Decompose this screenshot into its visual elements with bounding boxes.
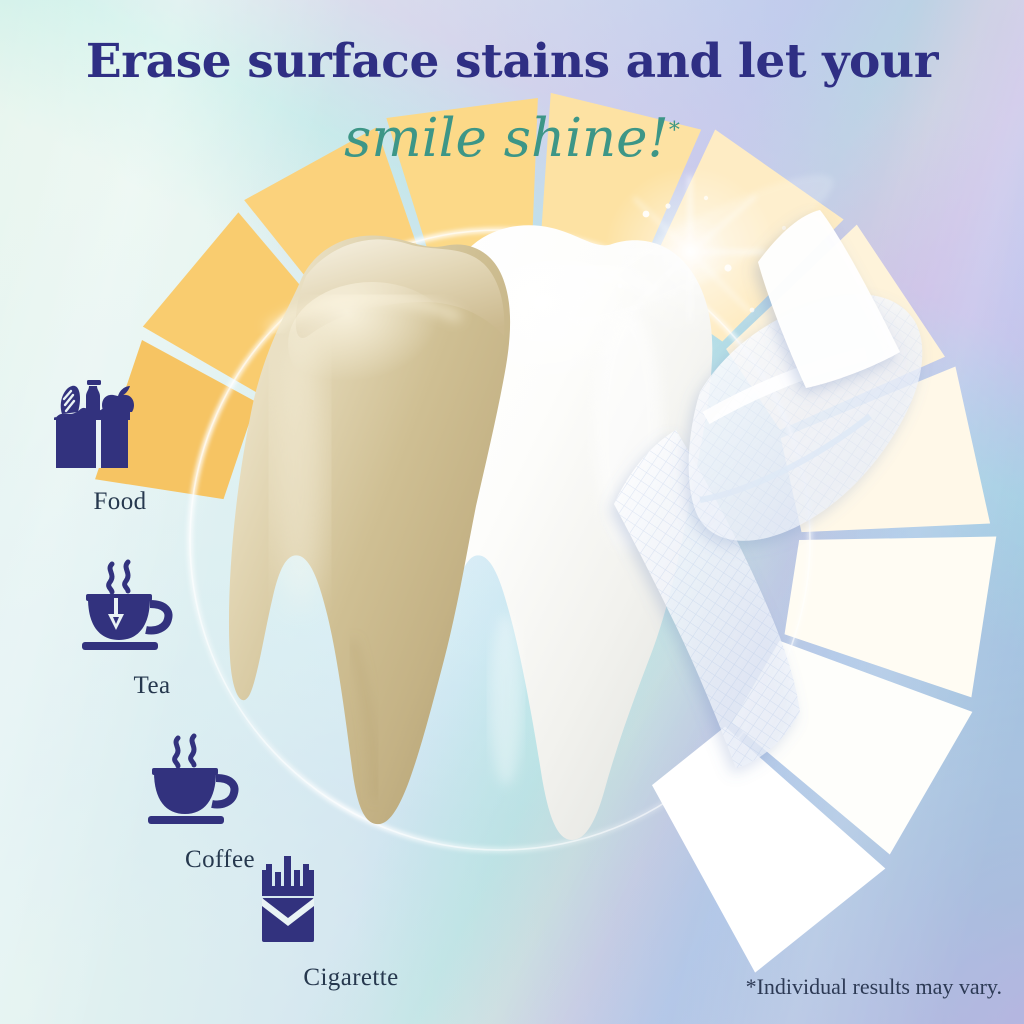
page-title: Erase surface stains and let your [0,34,1024,89]
stain-source-label: Cigarette [236,964,466,992]
cigarette-pack-icon [236,848,466,952]
subtitle-asterisk: * [669,118,680,143]
stain-source-food[interactable]: Food [40,372,200,516]
subtitle-text: smile shine! [344,108,669,169]
footnote-disclaimer: *Individual results may vary. [746,974,1002,1000]
stain-source-label: Food [40,488,200,516]
grocery-bag-icon [40,372,200,476]
page-subtitle: smile shine!* [0,108,1024,169]
stain-source-cigarette[interactable]: Cigarette [236,848,466,992]
poster-canvas: Erase surface stains and let your smile … [0,0,1024,1024]
stain-source-tea[interactable]: Tea [72,556,232,700]
coffee-cup-icon [140,730,300,834]
stain-source-label: Tea [72,672,232,700]
teacup-icon [72,556,232,660]
